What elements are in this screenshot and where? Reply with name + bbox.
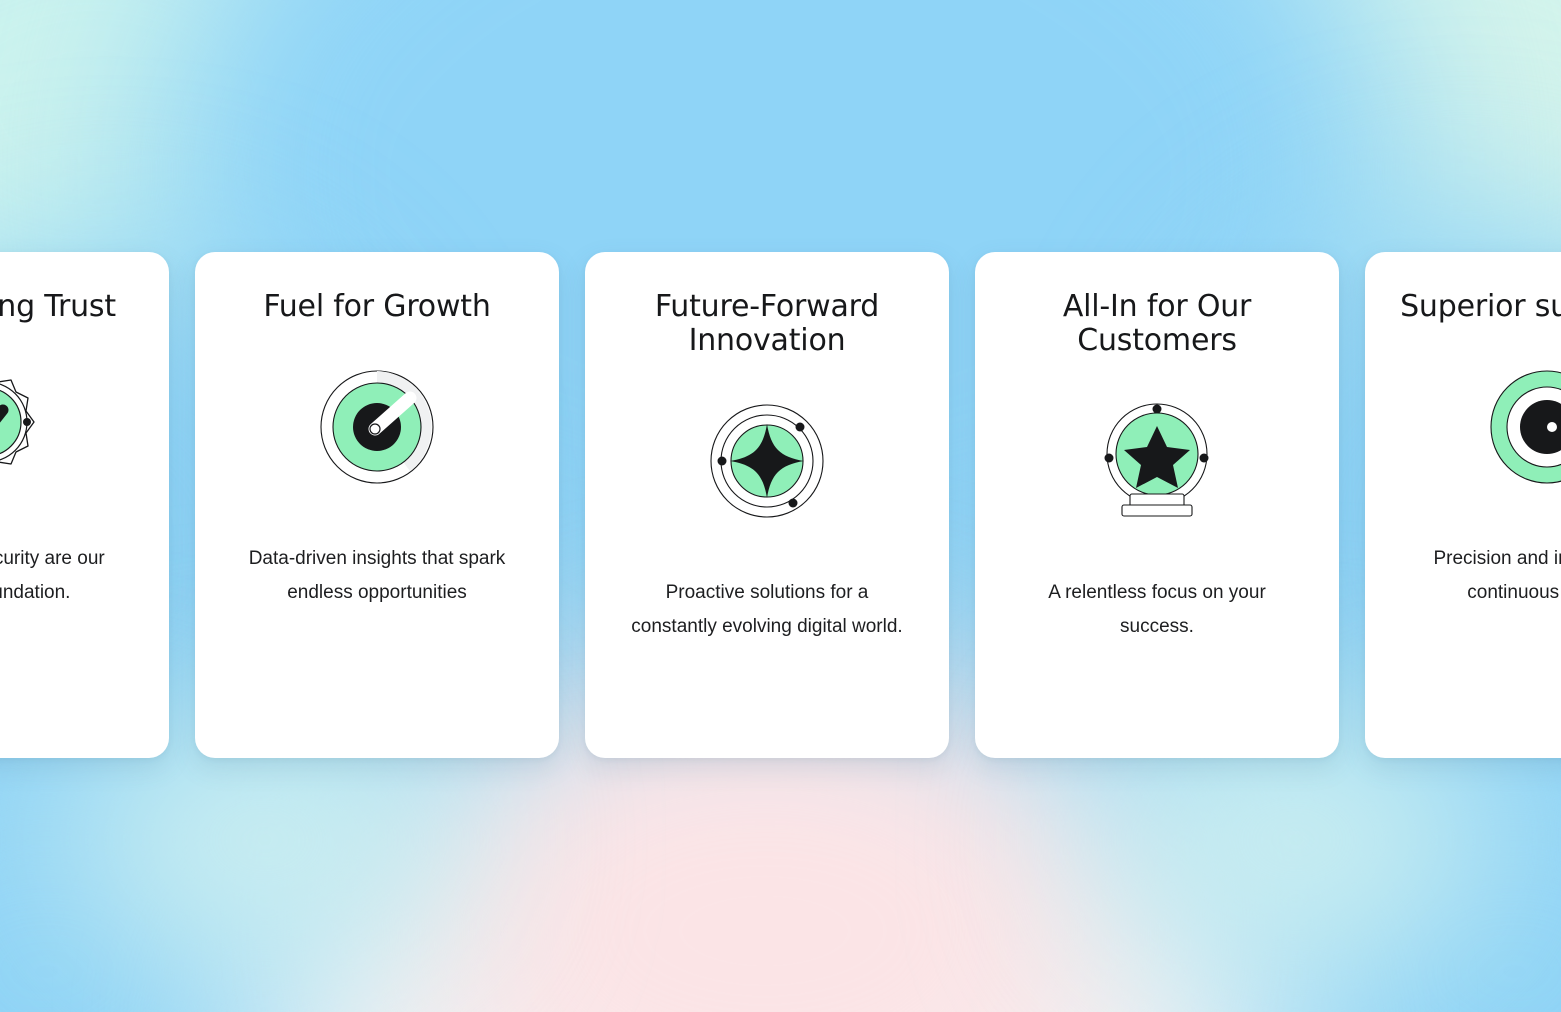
card-title: Future-Forward Innovation	[617, 290, 917, 358]
value-card-all-in-for-our-customers[interactable]: All-In for Our Customers A relentless fo…	[975, 252, 1339, 758]
value-card-fuel-for-growth[interactable]: Fuel for Growth Data-driven insights tha…	[195, 252, 559, 758]
card-title: Unwavering Trust	[0, 290, 116, 324]
value-card-unwavering-trust[interactable]: Unwavering Trust Privacy and security ar…	[0, 252, 169, 758]
crystal-ball-star-icon	[1096, 400, 1218, 522]
badge-check-icon	[0, 366, 48, 488]
card-title: Fuel for Growth	[263, 290, 490, 324]
value-card-future-forward-innovation[interactable]: Future-Forward Innovation Proactive solu…	[585, 252, 949, 758]
gauge-icon	[316, 366, 438, 488]
value-card-superior-quality[interactable]: Superior superiority Precision and innov…	[1365, 252, 1561, 758]
card-description: Proactive solutions for a constantly evo…	[621, 576, 913, 644]
card-title: All-In for Our Customers	[1007, 290, 1307, 358]
card-title: Superior superiority	[1400, 290, 1561, 324]
values-carousel[interactable]: Unwavering Trust Privacy and security ar…	[0, 252, 1561, 758]
card-description: Privacy and security are our bedrock fou…	[0, 542, 133, 610]
card-description: A relentless focus on your success.	[1011, 576, 1303, 644]
carousel-track[interactable]: Unwavering Trust Privacy and security ar…	[0, 252, 1561, 758]
card-description: Precision and innovation in continuous p…	[1401, 542, 1561, 610]
card-description: Data-driven insights that spark endless …	[231, 542, 523, 610]
orbit-sparkle-icon	[706, 400, 828, 522]
target-bullseye-icon	[1486, 366, 1561, 488]
